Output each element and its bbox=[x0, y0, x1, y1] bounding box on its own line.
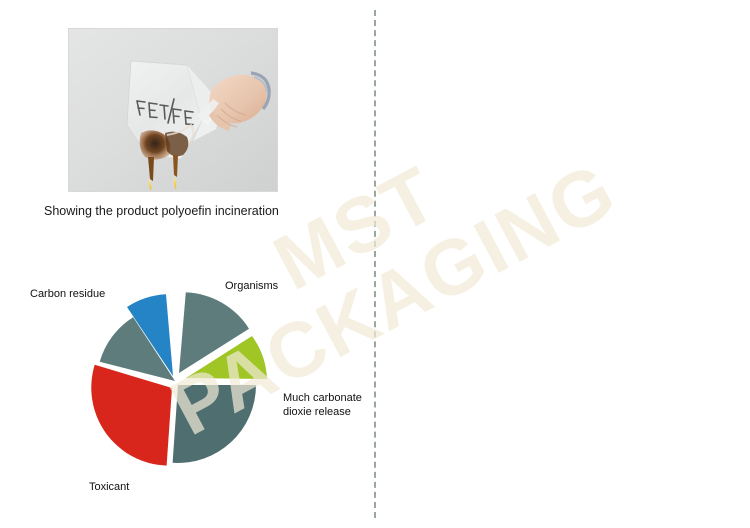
label-left-carbon-residue: Carbon residue bbox=[30, 288, 105, 302]
pie-left-svg bbox=[20, 265, 375, 515]
label-left-organisms: Organisms bbox=[225, 280, 278, 294]
pie-chart-polyolefin bbox=[20, 265, 375, 515]
caption-left: Showing the product polyoefin incinerati… bbox=[44, 203, 354, 219]
left-panel: Showing the product polyoefin incinerati… bbox=[0, 0, 375, 528]
pie-left-slices bbox=[91, 292, 267, 465]
photo-polyolefin-incineration bbox=[68, 28, 278, 192]
photo-left-graphic bbox=[69, 29, 277, 191]
right-panel: Showing the product afrer the incinerati… bbox=[375, 0, 750, 528]
label-left-co2-release: Much carbonate dioxie release bbox=[283, 392, 369, 419]
slice-co2-release[interactable] bbox=[173, 385, 256, 463]
slice-toxicant[interactable] bbox=[91, 365, 172, 466]
label-left-toxicant: Toxicant bbox=[89, 481, 129, 495]
